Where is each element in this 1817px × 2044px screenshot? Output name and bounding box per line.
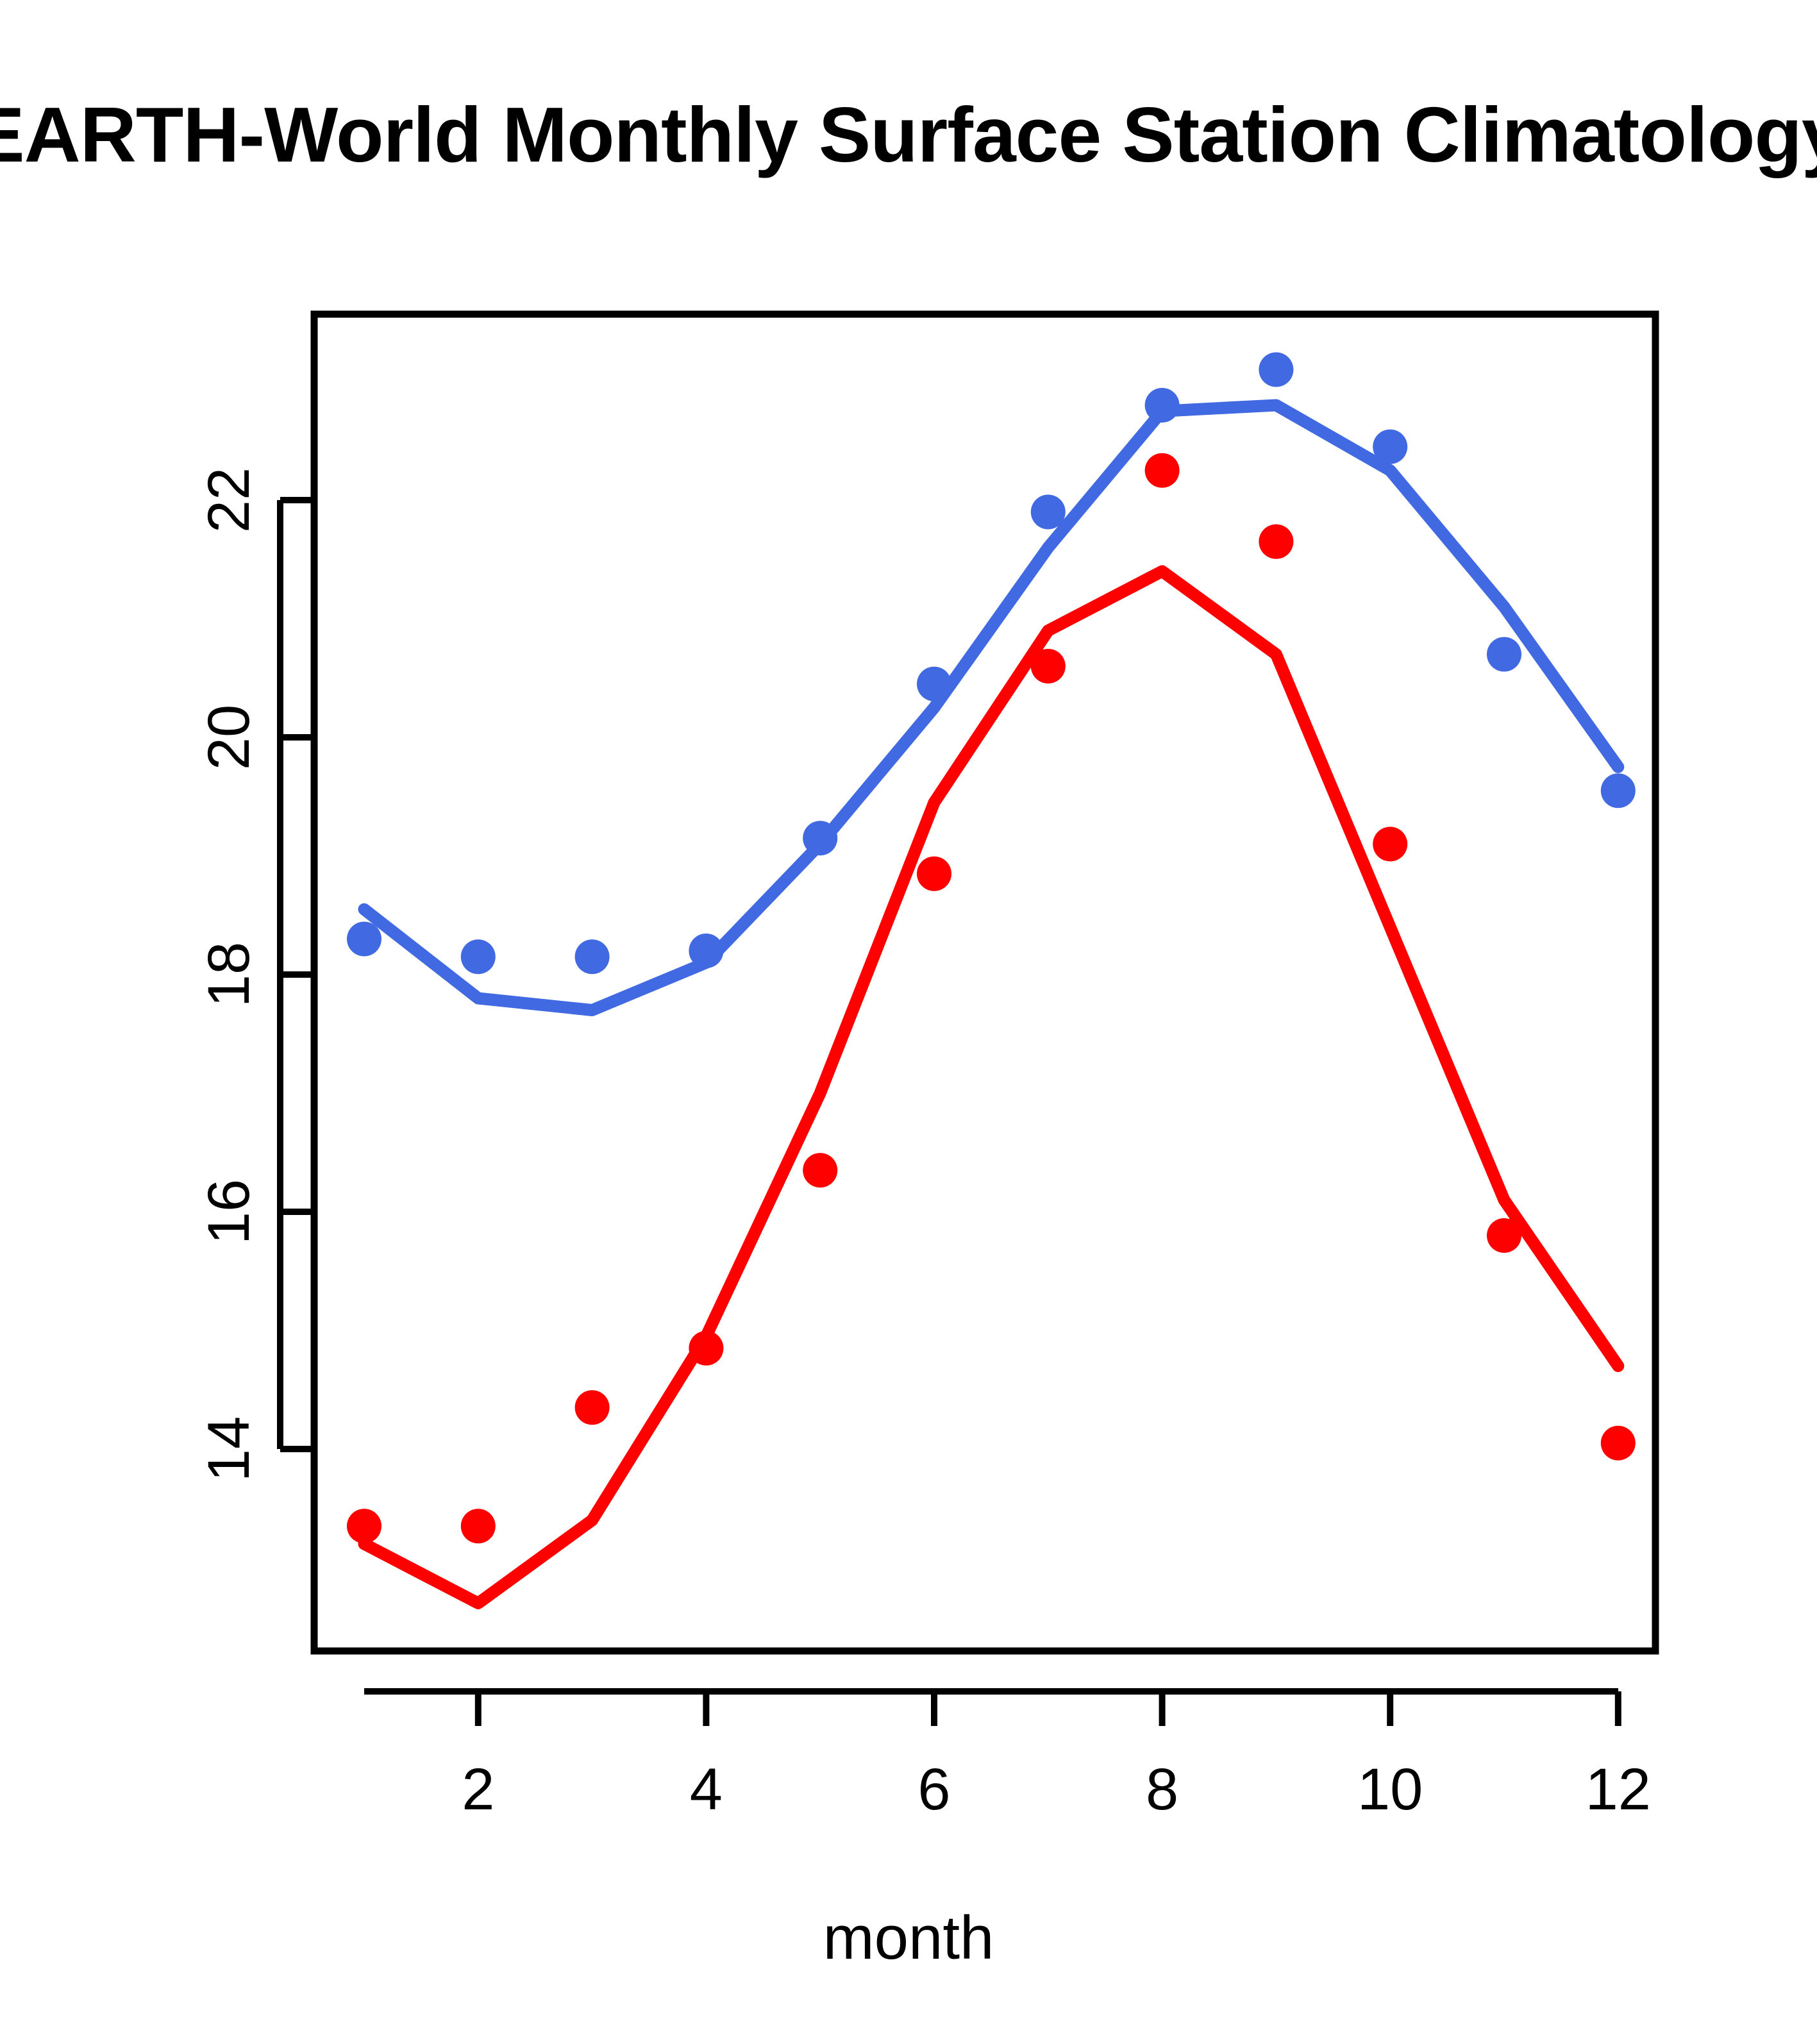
y-tick-label: 22 — [199, 442, 258, 558]
x-tick-label: 4 — [629, 1760, 783, 1819]
data-point — [917, 857, 951, 891]
x-tick-label: 2 — [401, 1760, 555, 1819]
data-point — [689, 1331, 723, 1366]
data-point — [803, 1153, 837, 1187]
chart-page: EARTH-World Monthly Surface Station Clim… — [0, 0, 1817, 2044]
y-axis-ticks — [280, 500, 314, 1449]
data-point — [1487, 637, 1521, 672]
data-point — [575, 1390, 610, 1425]
data-point — [917, 667, 951, 701]
data-point — [1145, 453, 1180, 488]
x-axis-title: month — [0, 1907, 1817, 1969]
data-point — [689, 934, 723, 968]
y-tick-label: 20 — [199, 680, 258, 795]
plot-svg — [0, 0, 1817, 2044]
x-tick-label: 10 — [1313, 1760, 1467, 1819]
data-point — [803, 821, 837, 855]
data-point — [1145, 388, 1180, 423]
data-point — [1373, 430, 1407, 464]
y-tick-label: 18 — [199, 917, 258, 1032]
data-point — [575, 939, 610, 974]
series-line-red-line — [364, 571, 1618, 1604]
y-axis — [280, 500, 314, 1449]
data-point — [347, 1509, 381, 1543]
data-point — [1031, 649, 1066, 683]
data-point — [1259, 524, 1293, 559]
data-point — [1031, 495, 1066, 530]
x-axis — [364, 1691, 1618, 1726]
data-point — [1601, 1426, 1636, 1461]
data-point — [1259, 353, 1293, 387]
data-point — [347, 922, 381, 957]
data-point — [1601, 773, 1636, 808]
x-axis-ticks — [478, 1691, 1618, 1726]
series-lines — [364, 405, 1618, 1604]
data-point — [461, 1509, 496, 1543]
x-tick-label: 6 — [857, 1760, 1011, 1819]
x-tick-label: 12 — [1541, 1760, 1695, 1819]
data-point — [461, 939, 496, 974]
plot-frame — [314, 314, 1655, 1651]
y-tick-label: 14 — [199, 1391, 258, 1507]
x-tick-label: 8 — [1085, 1760, 1239, 1819]
data-point — [1373, 827, 1407, 862]
y-tick-label: 16 — [199, 1154, 258, 1269]
plot-area: 2220181614 24681012 — [0, 0, 1817, 2044]
data-point — [1487, 1218, 1521, 1253]
